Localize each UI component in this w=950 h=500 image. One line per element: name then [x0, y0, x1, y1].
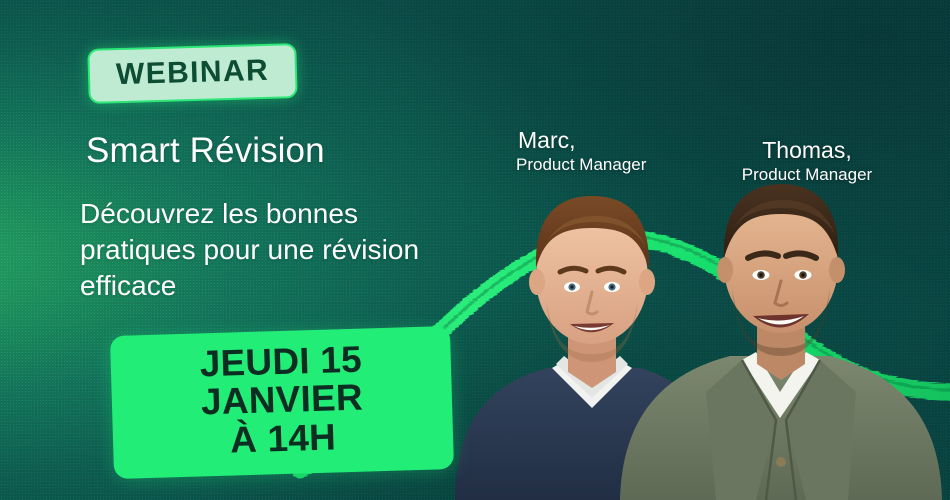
webinar-banner: WEBINAR Smart Révision Découvrez les bon…	[0, 0, 950, 500]
date-badge-line-2: À 14H	[131, 415, 436, 462]
speaker-name-marc: Marc,	[518, 128, 646, 154]
speaker-caption-marc: Marc, Product Manager	[516, 128, 646, 174]
page-title: Smart Révision	[86, 131, 325, 171]
webinar-badge-label: WEBINAR	[116, 56, 270, 90]
speaker-role-marc: Product Manager	[516, 155, 646, 174]
speaker-role-thomas: Product Manager	[722, 165, 892, 184]
webinar-badge: WEBINAR	[87, 43, 298, 104]
date-badge-line-1: JEUDI 15 JANVIER	[128, 339, 434, 425]
speaker-name-thomas: Thomas,	[722, 138, 892, 164]
date-badge: JEUDI 15 JANVIER À 14H	[110, 326, 454, 479]
speaker-photo-thomas	[620, 184, 942, 500]
speaker-caption-thomas: Thomas, Product Manager	[722, 138, 892, 184]
page-subtitle: Découvrez les bonnes pratiques pour une …	[80, 196, 480, 304]
